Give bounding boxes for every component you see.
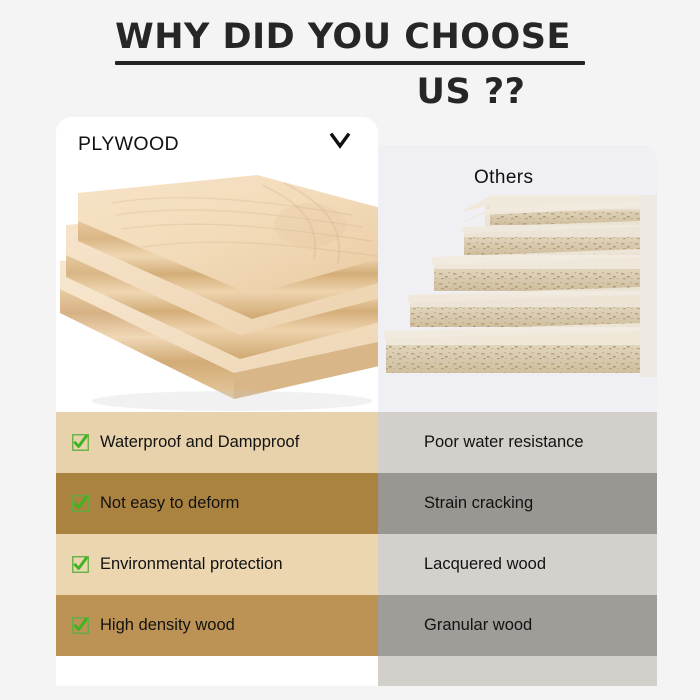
table-cell-label: Granular wood [424, 616, 532, 635]
headline-line2-container: US ?? [0, 73, 700, 112]
comparison-table: Waterproof and Dampproof Poor water resi… [56, 412, 657, 686]
table-cell-others: Granular wood [378, 595, 657, 656]
check-box-icon [72, 617, 89, 634]
table-row: High density wood Granular wood [56, 595, 657, 656]
table-cell-plywood: Environmental protection [56, 534, 378, 595]
table-cell-plywood: Not easy to deform [56, 473, 378, 534]
panel-others: Others [378, 145, 657, 412]
headline-line2: US ?? [417, 73, 526, 112]
table-cell-plywood: Waterproof and Dampproof [56, 412, 378, 473]
table-row-partial [56, 656, 657, 686]
image-panels: PLYWOOD [56, 117, 657, 412]
table-cell-others: Poor water resistance [378, 412, 657, 473]
particleboard-sheets-image [382, 181, 657, 412]
headline-line1-container: WHY DID YOU CHOOSE [0, 18, 700, 57]
check-box-icon [72, 556, 89, 573]
table-cell-label: Lacquered wood [424, 555, 546, 574]
table-row: Not easy to deform Strain cracking [56, 473, 657, 534]
table-row: Waterproof and Dampproof Poor water resi… [56, 412, 657, 473]
table-cell-others: Lacquered wood [378, 534, 657, 595]
page-headline: WHY DID YOU CHOOSE US ?? [0, 18, 700, 112]
table-row: Environmental protection Lacquered wood [56, 534, 657, 595]
panel-plywood: PLYWOOD [56, 117, 378, 412]
check-box-icon [72, 495, 89, 512]
comparison-section: PLYWOOD [56, 117, 657, 700]
table-cell-plywood: High density wood [56, 595, 378, 656]
headline-line1: WHY DID YOU CHOOSE [115, 18, 571, 57]
table-cell-others [378, 656, 657, 686]
table-cell-label: Waterproof and Dampproof [100, 433, 299, 452]
others-label: Others [474, 167, 533, 189]
table-cell-label: Not easy to deform [100, 494, 239, 513]
table-cell-label: High density wood [100, 616, 235, 635]
table-cell-label: Strain cracking [424, 494, 533, 513]
chevron-down-icon[interactable] [329, 132, 351, 155]
plywood-label: PLYWOOD [78, 133, 179, 156]
table-cell-label: Poor water resistance [424, 433, 584, 452]
table-cell-label: Environmental protection [100, 555, 283, 574]
table-cell-others: Strain cracking [378, 473, 657, 534]
plywood-sheets-image [56, 163, 378, 412]
check-box-icon [72, 434, 89, 451]
table-cell-plywood [56, 656, 378, 686]
headline-underline [115, 61, 585, 65]
